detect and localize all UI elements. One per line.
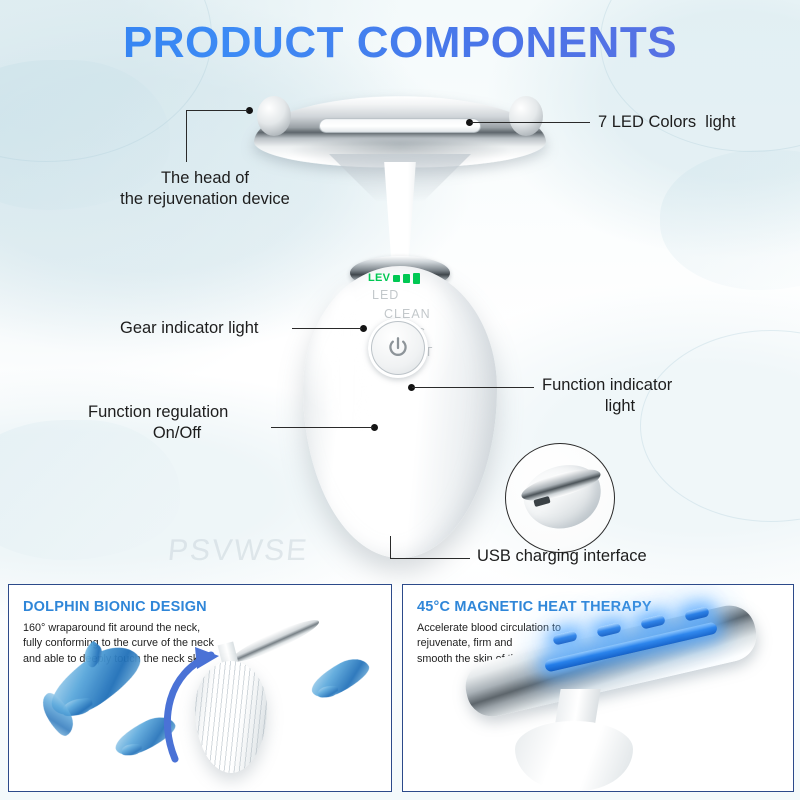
power-icon: [385, 335, 411, 361]
leader-power: [271, 427, 373, 428]
level-label: LEV: [368, 272, 390, 284]
card-dolphin-bionic-design: DOLPHIN BIONIC DESIGN 160° wraparound fi…: [8, 584, 392, 792]
wand-chrome-head: [460, 600, 761, 721]
device-led-slot: [319, 118, 482, 133]
main-device-illustration: LEV LED CLEAN EMS HOT: [255, 88, 545, 558]
mini-device-head: [228, 614, 322, 668]
label-led-colors: 7 LED Colors light: [598, 112, 736, 133]
label-head-line2: the rejuvenation device: [110, 189, 300, 210]
gear-level-indicator: LEV: [368, 272, 420, 284]
card-heading-dolphin: DOLPHIN BIONIC DESIGN: [23, 599, 207, 615]
heat-wand-illustration: [457, 605, 787, 785]
dolphin-icon-right: [307, 652, 374, 704]
wand-body-base: [515, 721, 633, 791]
label-function-regulation-line2: On/Off: [88, 423, 266, 444]
power-button[interactable]: [368, 318, 428, 378]
device-head-tip-left: [257, 96, 291, 136]
leader-usb-h: [390, 558, 470, 559]
watermark: PSVWSE: [166, 534, 310, 568]
level-bar-2: [403, 274, 410, 283]
label-function-regulation-line1: Function regulation: [88, 402, 228, 423]
function-label-led: LED: [372, 286, 476, 305]
usb-detail-inset: [505, 443, 615, 553]
leader-head-v: [186, 110, 187, 162]
label-gear-indicator: Gear indicator light: [120, 318, 259, 339]
card-magnetic-heat-therapy: 45°C MAGNETIC HEAT THERAPY Accelerate bl…: [402, 584, 794, 792]
level-bar-3: [413, 273, 420, 284]
leader-gear: [292, 328, 362, 329]
level-bar-1: [393, 275, 400, 282]
label-function-indicator-line2: light: [542, 396, 698, 417]
leader-head-h: [186, 110, 248, 111]
product-components-infographic: PRODUCT COMPONENTS LEV LED CLEAN E: [0, 0, 800, 800]
leader-usb-v: [390, 536, 391, 559]
device-head-tip-right: [509, 96, 543, 136]
label-usb: USB charging interface: [477, 546, 647, 567]
label-function-indicator-line1: Function indicator: [542, 375, 672, 396]
label-head-line1: The head of: [110, 168, 300, 189]
leader-function-indicator: [412, 387, 534, 388]
device-body-highlight: [327, 288, 367, 478]
page-title: PRODUCT COMPONENTS: [0, 18, 800, 68]
leader-led-colors: [470, 122, 590, 123]
